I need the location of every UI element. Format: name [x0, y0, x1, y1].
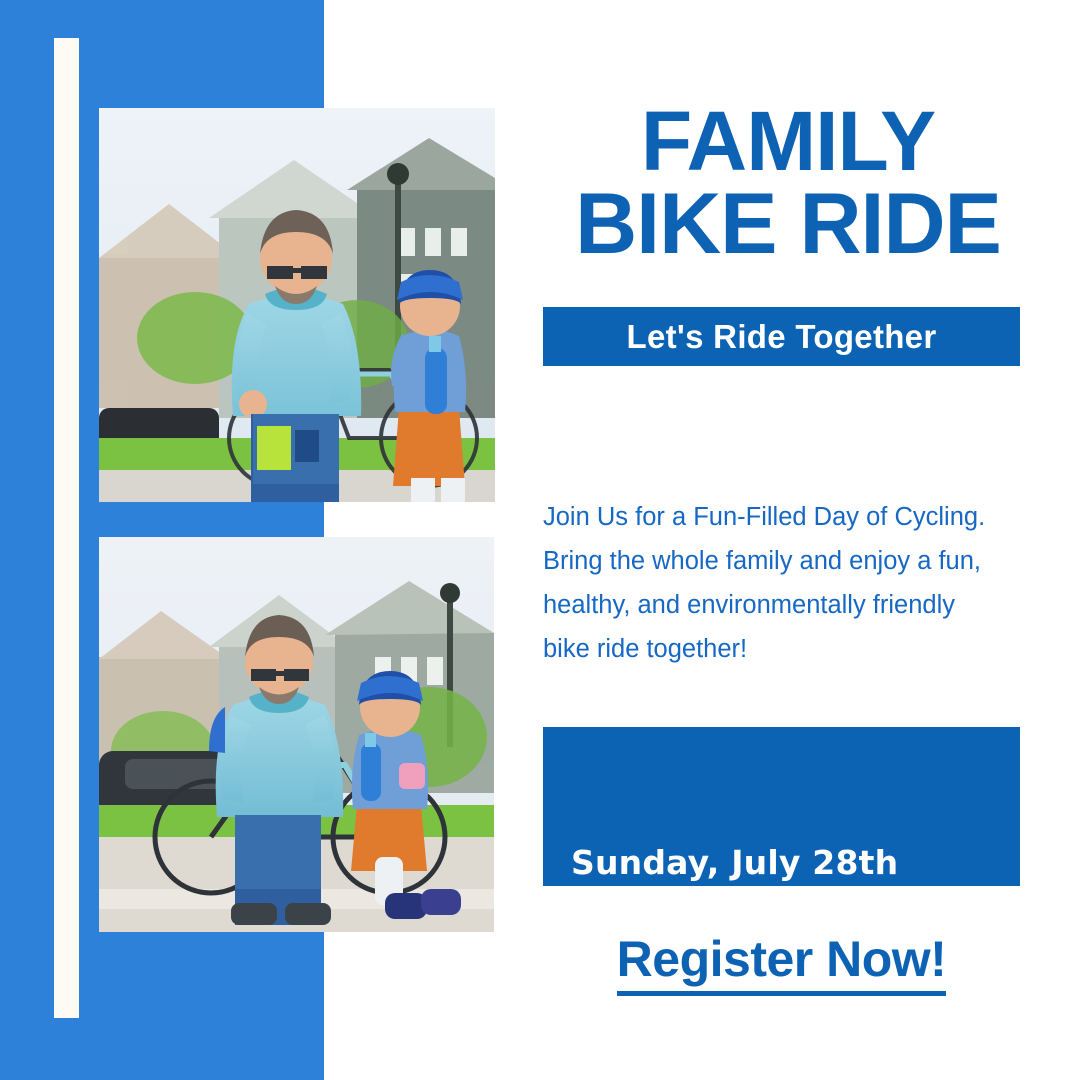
description-line-2: Bring the whole family and enjoy a fun,: [543, 540, 1023, 584]
photo-family-bike-top: [99, 108, 495, 502]
headline-line-2: BIKE RIDE: [543, 182, 1033, 266]
event-details-content: Sunday, July 28th 07 : 00 AM Start from …: [571, 749, 1010, 1080]
headline-line-1: FAMILY: [543, 100, 1033, 182]
subtitle-band: Let's Ride Together: [543, 307, 1020, 366]
event-date: Sunday, July 28th: [571, 840, 1010, 886]
photo-bottom-illustration: [99, 537, 494, 932]
register-cta[interactable]: Register Now!: [543, 930, 1020, 996]
event-details-box: Sunday, July 28th 07 : 00 AM Start from …: [543, 727, 1020, 886]
description-text: Join Us for a Fun-Filled Day of Cycling.…: [543, 496, 1023, 671]
subtitle-text: Let's Ride Together: [627, 318, 937, 356]
photo-top-illustration: [99, 108, 495, 502]
description-line-3: healthy, and environmentally friendly: [543, 584, 1023, 628]
description-line-4: bike ride together!: [543, 628, 1023, 672]
page-title: FAMILY BIKE RIDE: [543, 100, 1033, 267]
cream-accent-stripe: [54, 38, 79, 1018]
left-blue-panel-extension: [0, 316, 10, 1080]
description-line-1: Join Us for a Fun-Filled Day of Cycling.: [543, 496, 1023, 540]
register-link-label[interactable]: Register Now!: [617, 930, 947, 996]
poster-canvas: FAMILY BIKE RIDE Let's Ride Together Joi…: [0, 0, 1080, 1080]
photo-family-bike-bottom: [99, 537, 494, 932]
